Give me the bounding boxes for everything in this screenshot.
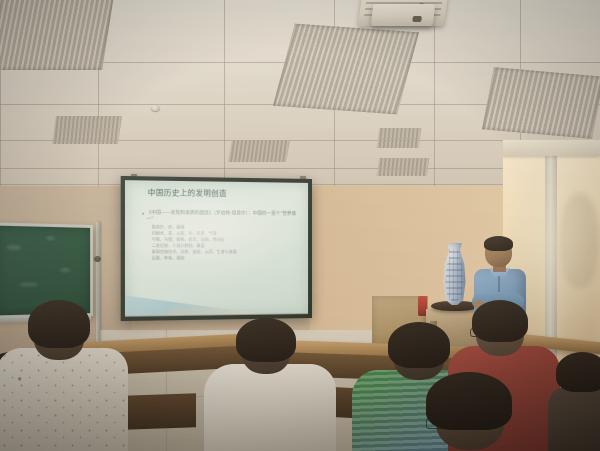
student-torso (204, 364, 336, 451)
student-hair (556, 352, 600, 392)
student-torso (0, 348, 128, 451)
presenter-hair (484, 236, 513, 251)
slide-title: 中国历史上的发明创造 (148, 187, 227, 198)
air-vent (228, 140, 290, 162)
student-hair (28, 300, 90, 348)
air-vent (52, 116, 122, 144)
student-hair (426, 372, 512, 430)
student-hair (472, 300, 528, 342)
student-hair (236, 318, 296, 362)
chalkboard-knob-icon (94, 256, 101, 262)
fluorescent-light-panel (482, 67, 600, 139)
slide-bullet: 《中国——发现和发明的国度》（罗伯特·坦普尔）：中国的一百个"世界第一" (142, 210, 301, 225)
air-vent (377, 128, 422, 148)
air-vent (377, 158, 430, 176)
projection-screen: 中国历史上的发明创造 《中国——发现和发明的国度》（罗伯特·坦普尔）：中国的一百… (121, 176, 312, 321)
slide-body: 《中国——发现和发明的国度》（罗伯特·坦普尔）：中国的一百个"世界第一" 指南针… (142, 210, 301, 261)
presenter-placket (498, 276, 500, 292)
shirt-pattern (0, 348, 128, 451)
student-torso (548, 386, 600, 451)
fluorescent-light-panel (0, 0, 114, 70)
slide-line: 豆腐、养鱼、酒曲 (152, 255, 301, 261)
slide-decoration (125, 280, 308, 317)
slide-surface: 中国历史上的发明创造 《中国——发现和发明的国度》（罗伯特·坦普尔）：中国的一百… (125, 180, 308, 317)
fluorescent-light-panel (273, 24, 419, 115)
window-header (503, 140, 600, 156)
bullet-dot-icon (142, 212, 144, 214)
projector-lens-icon (412, 16, 422, 22)
classroom-photo: 中国历史上的发明创造 《中国——发现和发明的国度》（罗伯特·坦普尔）：中国的一百… (0, 0, 600, 451)
student-hair (388, 322, 450, 368)
audience-member (396, 372, 546, 451)
audience-member (214, 318, 326, 451)
ceiling-projector (371, 4, 435, 26)
smoke-detector-icon (151, 105, 160, 111)
slide-bullet-text: 《中国——发现和发明的国度》（罗伯特·坦普尔）：中国的一百个"世界第一" (146, 210, 301, 225)
audience-member (2, 300, 122, 451)
audience-member (556, 352, 600, 451)
